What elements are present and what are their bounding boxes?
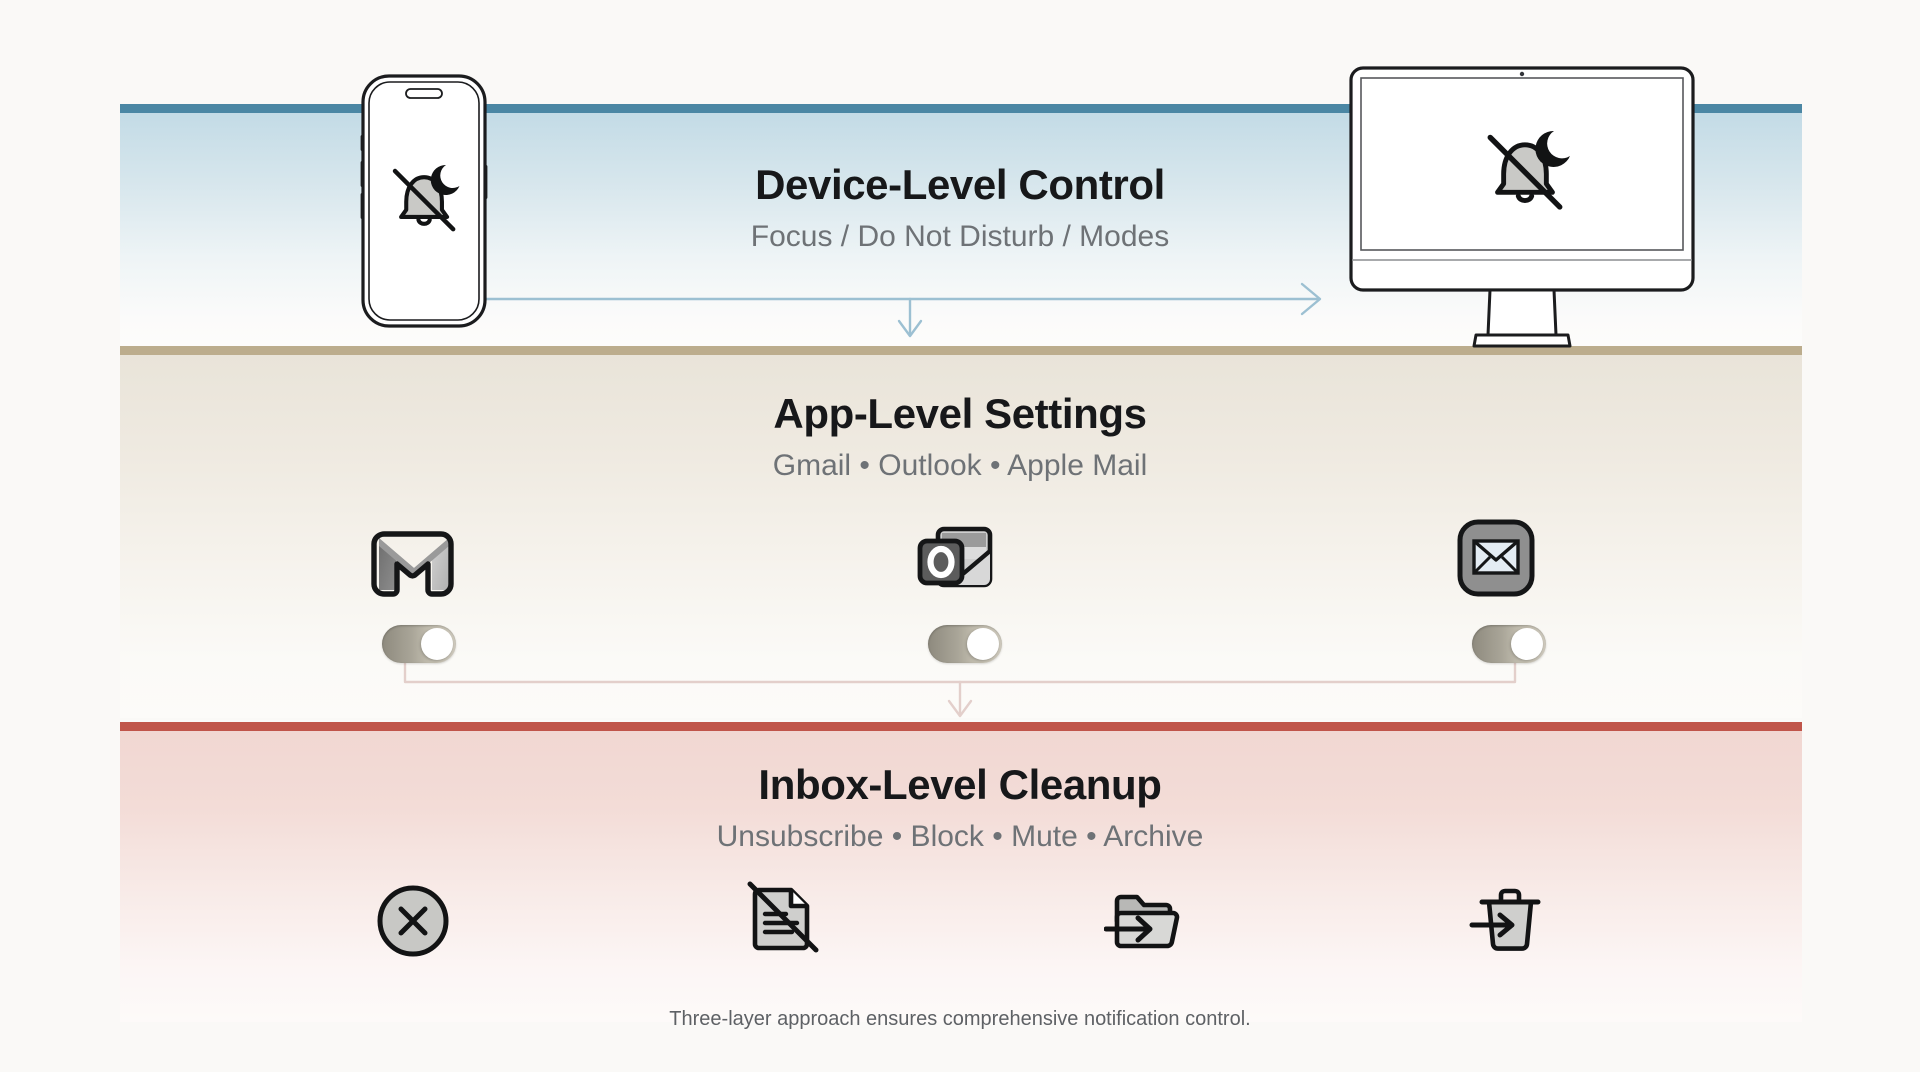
toggle-outlook[interactable] — [928, 625, 1002, 663]
heading-app-level: App-Level Settings Gmail • Outlook • App… — [0, 393, 1920, 481]
band-device-title: Device-Level Control — [0, 164, 1920, 206]
infographic-canvas: Device-Level Control Focus / Do Not Dist… — [0, 0, 1920, 1072]
toggle-knob — [967, 628, 999, 660]
outlook-logo-icon — [912, 515, 1000, 603]
band-inbox-subtitle: Unsubscribe • Block • Mute • Archive — [0, 822, 1920, 852]
footer-caption: Three-layer approach ensures comprehensi… — [0, 1008, 1920, 1031]
band-app-subtitle: Gmail • Outlook • Apple Mail — [0, 451, 1920, 481]
connector-device-flow — [480, 272, 1340, 347]
folder-arrow-in-icon — [1104, 880, 1186, 962]
heading-device-level: Device-Level Control Focus / Do Not Dist… — [0, 164, 1920, 252]
band-app-title: App-Level Settings — [0, 393, 1920, 435]
heading-inbox-level: Inbox-Level Cleanup Unsubscribe • Block … — [0, 764, 1920, 852]
toggle-knob — [1511, 628, 1543, 660]
gmail-logo-icon — [370, 518, 458, 606]
trash-arrow-in-icon — [1468, 876, 1550, 958]
band-device-subtitle: Focus / Do Not Disturb / Modes — [0, 222, 1920, 252]
document-slash-icon — [742, 876, 824, 958]
apple-mail-logo-icon — [1452, 513, 1540, 601]
toggle-gmail[interactable] — [382, 625, 456, 663]
toggle-knob — [421, 628, 453, 660]
band-inbox-title: Inbox-Level Cleanup — [0, 764, 1920, 806]
circle-x-icon — [372, 880, 454, 962]
toggle-apple-mail[interactable] — [1472, 625, 1546, 663]
